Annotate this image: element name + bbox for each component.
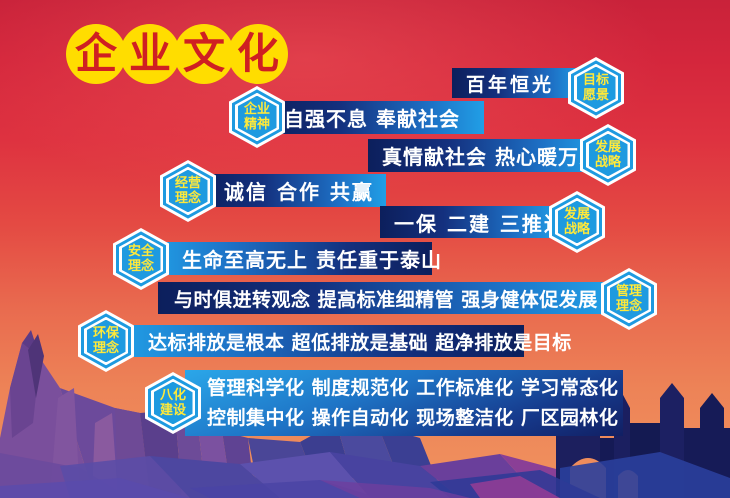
badge-safety-line-1: 安全	[128, 244, 154, 259]
badge-strategy-2: 发展 战略	[549, 191, 605, 253]
slogan-bar-business: 诚信 合作 共赢	[196, 174, 386, 207]
slogan-bar-environment: 达标排放是根本 超低排放是基础 超净排放是目标	[118, 325, 524, 357]
badge-spirit-line-2: 精神	[244, 117, 270, 132]
slogan-bar-safety: 生命至高无上 责任重于泰山	[150, 242, 432, 275]
slogan-text-spirit: 自强不息 奉献社会	[284, 103, 460, 132]
badge-management-line-2: 理念	[616, 299, 642, 314]
slogan-bar-strategy-2: 一保 二建 三推进	[380, 206, 560, 238]
badge-eight-construction-line-2: 建设	[160, 403, 186, 418]
slogan-text-strategy-2: 一保 二建 三推进	[394, 208, 566, 237]
badge-eight-construction: 八化 建设	[145, 372, 201, 434]
slogan-text-environment: 达标排放是根本 超低排放是基础 超净排放是目标	[148, 328, 572, 355]
badge-spirit: 企业 精神	[229, 86, 285, 148]
badge-strategy-2-line-1: 发展	[564, 207, 590, 222]
badge-eight-construction-line-1: 八化	[160, 388, 186, 403]
title-char-1: 企	[66, 24, 126, 84]
slogan-bar-spirit: 自强不息 奉献社会	[262, 101, 484, 134]
poster-title: 企 业 文 化	[66, 24, 282, 84]
badge-vision-line-1: 目标	[583, 73, 609, 88]
badge-safety: 安全 理念	[113, 228, 169, 290]
slogan-text-management: 与时俱进转观念 提高标准细精管 强身健体促发展	[174, 285, 598, 312]
badge-management-line-1: 管理	[616, 284, 642, 299]
slogan-text-strategy-1: 真情献社会 热心暖万家	[382, 141, 600, 170]
badge-environment-line-1: 环保	[93, 326, 119, 341]
slogan-text-business: 诚信 合作 共赢	[224, 176, 374, 205]
slogan-bar-management: 与时俱进转观念 提高标准细精管 强身健体促发展	[158, 282, 606, 314]
badge-business-line-2: 理念	[175, 191, 201, 206]
culture-poster: 企 业 文 化 百年恒光 自强不息 奉献社会 真情献社会 热心暖万家 诚信 合作…	[0, 0, 730, 498]
badge-spirit-line-1: 企业	[244, 102, 270, 117]
badge-environment: 环保 理念	[78, 310, 134, 372]
badge-vision: 目标 愿景	[568, 57, 624, 119]
badge-business-line-1: 经营	[175, 176, 201, 191]
title-char-3: 文	[174, 24, 234, 84]
badge-vision-line-2: 愿景	[583, 88, 609, 103]
badge-strategy-1-line-1: 发展	[595, 140, 621, 155]
eight-construction-block: 管理科学化 制度规范化 工作标准化 学习常态化 控制集中化 操作自动化 现场整洁…	[185, 370, 623, 436]
badge-strategy-2-line-2: 战略	[564, 222, 590, 237]
badge-strategy-1-line-2: 战略	[595, 155, 621, 170]
slogan-bar-vision: 百年恒光	[452, 68, 584, 98]
slogan-text-vision: 百年恒光	[466, 70, 554, 97]
badge-environment-line-2: 理念	[93, 341, 119, 356]
title-char-4: 化	[228, 24, 288, 84]
badge-management: 管理 理念	[601, 268, 657, 330]
slogan-bar-strategy-1: 真情献社会 热心暖万家	[368, 139, 598, 172]
badge-strategy-1: 发展 战略	[580, 124, 636, 186]
title-char-2: 业	[120, 24, 180, 84]
slogan-text-safety: 生命至高无上 责任重于泰山	[182, 244, 442, 273]
eight-construction-line-2: 控制集中化 操作自动化 现场整洁化 厂区园林化	[207, 403, 623, 433]
eight-construction-line-1: 管理科学化 制度规范化 工作标准化 学习常态化	[207, 373, 623, 403]
badge-business: 经营 理念	[160, 160, 216, 222]
badge-safety-line-2: 理念	[128, 259, 154, 274]
